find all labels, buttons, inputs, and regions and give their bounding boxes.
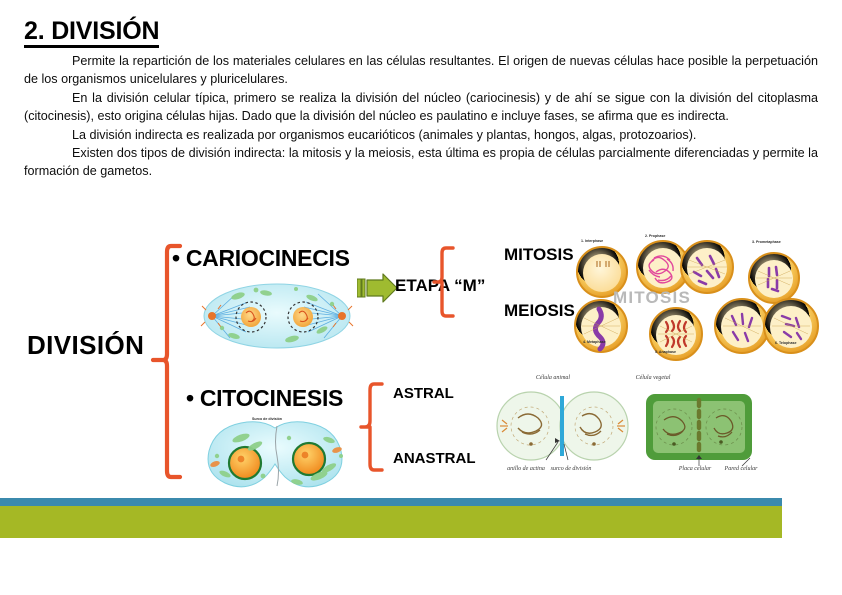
paragraph-1: Permite la repartición de los materiales… [24, 52, 818, 89]
cell-type-animal: Célula animal [517, 375, 589, 382]
footer-bar-green [0, 506, 782, 538]
plant-label-cell-wall: Pared celular [720, 466, 762, 473]
paragraph-4: Existen dos tipos de división indirecta:… [24, 144, 818, 181]
paragraph-2: En la división celular típica, primero s… [24, 89, 818, 126]
cell-type-plant: Célula vegetal [616, 375, 690, 382]
citocinesis-illustration [197, 416, 357, 494]
mitosis-montage-illustration [566, 238, 838, 364]
branch-label-cariocinesis: • CARIOCINECIS [172, 245, 350, 272]
stage-child-meiosis: MEIOSIS [504, 301, 575, 321]
phase-label-3: 3. Prometaphase [752, 240, 781, 244]
stage-arrow-icon [357, 272, 399, 309]
footer-bar-blue [0, 498, 782, 506]
mitosis-wordmark: MITOSIS [613, 288, 691, 308]
slide-page: 2. DIVISIÓN Permite la repartición de lo… [0, 0, 842, 595]
phase-label-6: 6. Telophase [775, 341, 797, 345]
cytokinesis-bracket [360, 382, 386, 472]
animal-label-cleavage-furrow: surco de división [548, 466, 594, 473]
page-title: 2. DIVISIÓN [24, 18, 159, 48]
cytokinesis-child-anastral: ANASTRAL [393, 450, 476, 467]
cytokinesis-figure-label: Surco de división [252, 417, 282, 421]
animal-label-actin-ring: anillo de actina [504, 466, 548, 473]
plant-label-cell-plate: Placa celular [674, 466, 716, 473]
stage-child-mitosis: MITOSIS [504, 245, 574, 265]
phase-label-2: 2. Prophase [645, 234, 665, 238]
cariocinesis-illustration [196, 276, 358, 356]
cytokinesis-child-astral: ASTRAL [393, 385, 454, 402]
phase-label-1: 1. Interphase [581, 239, 603, 243]
phase-label-4: 4. Metaphase [583, 340, 606, 344]
branch-label-citocinesis: • CITOCINESIS [186, 385, 343, 412]
paragraph-3: La división indirecta es realizada por o… [24, 126, 818, 144]
phase-label-5: 5. Anaphase [655, 350, 676, 354]
diagram-root-label: DIVISIÓN [27, 330, 144, 361]
stage-bracket [433, 246, 459, 318]
main-bracket [150, 243, 184, 483]
body-text: Permite la repartición de los materiales… [24, 52, 818, 181]
